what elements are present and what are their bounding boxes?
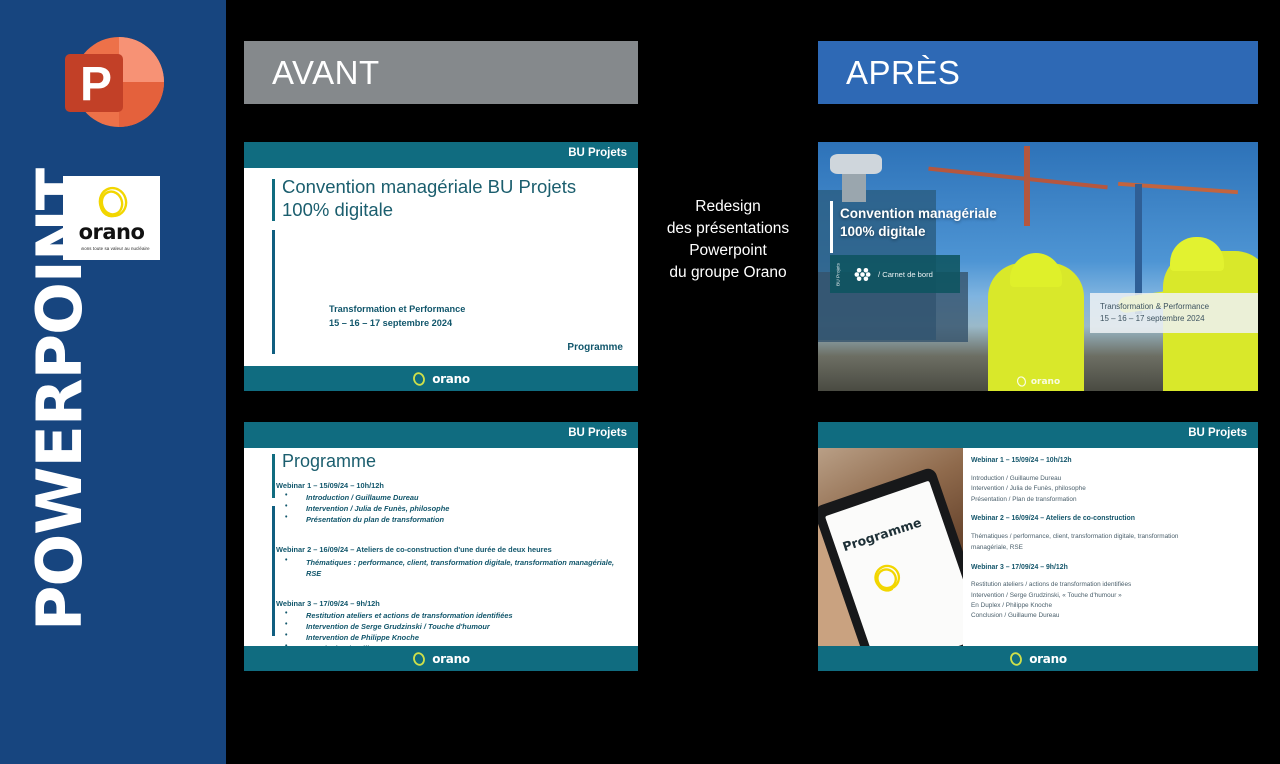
slide-footer-band: orano <box>244 646 638 671</box>
programme-group-heading: Webinar 1 – 15/09/24 – 10h/12h <box>276 480 628 491</box>
title-accent-rule <box>272 454 275 498</box>
programme-group: Webinar 2 – 16/09/24 – Ateliers de co-co… <box>276 544 628 578</box>
orano-swirl-icon <box>412 652 426 666</box>
slide-title-line-1: Convention managériale <box>840 205 997 223</box>
list-item: Intervention de Philippe Knoche <box>276 632 628 643</box>
list-item: Introduction / Guillaume Dureau <box>971 474 1248 484</box>
slide-before-cover[interactable]: BU Projets Convention managériale BU Pro… <box>244 142 638 391</box>
programme-group-heading: Webinar 2 – 16/09/24 – Ateliers de co-co… <box>276 544 628 555</box>
event-details-line-1: Transformation & Performance <box>1100 301 1258 313</box>
list-item: Restitution ateliers et actions de trans… <box>276 610 628 621</box>
tablet-photo: Programme <box>818 448 963 646</box>
programme-group-heading: Webinar 2 – 16/09/24 – Ateliers de co-co… <box>971 514 1248 525</box>
orano-swirl-icon <box>92 185 132 221</box>
slide-title-line-2: 100% digitale <box>282 198 612 221</box>
list-item: Intervention / Julia de Funès, philosoph… <box>276 503 628 514</box>
center-caption-line-2: des présentations <box>646 218 810 240</box>
slide-subtitle-line-2: 15 – 16 – 17 septembre 2024 <box>329 316 465 330</box>
column-header-after-label: APRÈS <box>818 54 960 92</box>
programme-group-heading: Webinar 1 – 15/09/24 – 10h/12h <box>971 456 1248 467</box>
column-header-before-label: AVANT <box>244 54 380 92</box>
bu-projets-vertical-tag: BU Projets <box>837 261 842 287</box>
programme-group: Webinar 3 – 17/09/24 – 9h/12h Restitutio… <box>971 563 1248 622</box>
list-item: Intervention / Serge Grudzinski, « Touch… <box>971 591 1248 601</box>
flower-cluster-icon <box>854 266 871 283</box>
column-header-before: AVANT <box>244 41 638 104</box>
tablet-screen-caption: Programme <box>841 515 924 555</box>
programme-items: Introduction / Guillaume Dureau Interven… <box>276 492 628 525</box>
slide-title: Programme <box>282 451 376 472</box>
slide-footer-band: orano <box>244 366 638 391</box>
center-caption-line-1: Redesign <box>646 196 810 218</box>
title-accent-rule <box>830 201 833 253</box>
list-item: Présentation du plan de transformation <box>276 514 628 525</box>
list-item: Restitution ateliers / actions de transf… <box>971 580 1248 590</box>
slide-subtitle: Transformation et Performance 15 – 16 – … <box>329 302 465 331</box>
orano-swirl-icon <box>412 372 426 386</box>
programme-group: Webinar 2 – 16/09/24 – Ateliers de co-co… <box>971 514 1248 552</box>
orano-wordmark: orano <box>432 652 470 666</box>
programme-group-heading: Webinar 3 – 17/09/24 – 9h/12h <box>276 598 628 609</box>
slide-title-line-2: 100% digitale <box>840 223 997 241</box>
programme-items: Thématiques : performance, client, trans… <box>276 557 628 579</box>
programme-list: Webinar 1 – 15/09/24 – 10h/12h Introduct… <box>971 456 1248 631</box>
orano-wordmark: orano <box>1029 652 1067 666</box>
column-header-after: APRÈS <box>818 41 1258 104</box>
body-accent-rule <box>272 230 275 354</box>
slide-subtitle-line-1: Transformation et Performance <box>329 302 465 316</box>
list-item: Thématiques : performance, client, trans… <box>276 557 628 579</box>
programme-link[interactable]: Programme <box>567 342 623 353</box>
programme-group-heading: Webinar 3 – 17/09/24 – 9h/12h <box>971 563 1248 574</box>
list-item: En Duplex / Philippe Knoche <box>971 601 1248 611</box>
center-caption-line-4: du groupe Orano <box>646 262 810 284</box>
slide-title-line-1: Convention managériale BU Projets <box>282 175 612 198</box>
programme-group: Webinar 1 – 15/09/24 – 10h/12h Introduct… <box>276 480 628 525</box>
carnet-de-bord-label: / Carnet de bord <box>878 270 933 279</box>
svg-text:P: P <box>80 58 112 111</box>
left-sidebar: P orano Donnons toute sa valeur au nuclé… <box>0 0 226 764</box>
slide-before-programme[interactable]: BU Projets Programme Webinar 1 – 15/09/2… <box>244 422 638 671</box>
bu-projets-tag: BU Projets <box>568 147 627 159</box>
slide-title: Convention managériale BU Projets 100% d… <box>282 175 612 221</box>
title-accent-rule <box>272 179 275 221</box>
orano-wordmark: orano <box>1031 377 1060 387</box>
orano-wordmark: orano <box>432 372 470 386</box>
bu-projets-tag: BU Projets <box>568 427 627 439</box>
list-item: Thématiques / performance, client, trans… <box>971 532 1248 542</box>
body-accent-rule <box>272 506 275 636</box>
slide-after-programme[interactable]: BU Projets Programme <box>818 422 1258 671</box>
center-caption-line-3: Powerpoint <box>646 240 810 262</box>
slide-header-band: BU Projets <box>818 422 1258 448</box>
list-item: Conclusion / Guillaume Dureau <box>971 611 1248 621</box>
orano-swirl-icon <box>1016 376 1027 387</box>
event-details-line-2: 15 – 16 – 17 septembre 2024 <box>1100 313 1258 325</box>
slide-header-band: BU Projets <box>244 142 638 168</box>
center-caption: Redesign des présentations Powerpoint du… <box>646 196 810 284</box>
list-item: managériale, RSE <box>971 543 1248 553</box>
list-item: Intervention de Serge Grudzinski / Touch… <box>276 621 628 632</box>
carnet-de-bord-badge[interactable]: BU Projets / Carnet de bord <box>830 255 960 293</box>
slide-header-band: BU Projets <box>244 422 638 448</box>
slide-footer-logo: orano <box>818 376 1258 387</box>
powerpoint-icon: P <box>57 26 169 138</box>
screenshot-root: P orano Donnons toute sa valeur au nuclé… <box>0 0 1280 764</box>
list-item: Présentation / Plan de transformation <box>971 495 1248 505</box>
slide-footer-band: orano <box>818 646 1258 671</box>
orano-swirl-icon <box>1009 652 1023 666</box>
slide-title: Convention managériale 100% digitale <box>840 205 997 240</box>
event-details-note: Transformation & Performance 15 – 16 – 1… <box>1090 293 1258 333</box>
list-item: Introduction / Guillaume Dureau <box>276 492 628 503</box>
programme-list: Webinar 1 – 15/09/24 – 10h/12h Introduct… <box>276 480 628 661</box>
list-item: Intervention / Julia de Funès, philosoph… <box>971 484 1248 494</box>
programme-group: Webinar 1 – 15/09/24 – 10h/12h Introduct… <box>971 456 1248 504</box>
vertical-powerpoint-label: POWERPOINT <box>29 211 91 631</box>
orano-swirl-icon <box>864 557 909 601</box>
bu-projets-tag: BU Projets <box>1188 427 1247 439</box>
slide-after-cover[interactable]: Convention managériale 100% digitale BU … <box>818 142 1258 391</box>
